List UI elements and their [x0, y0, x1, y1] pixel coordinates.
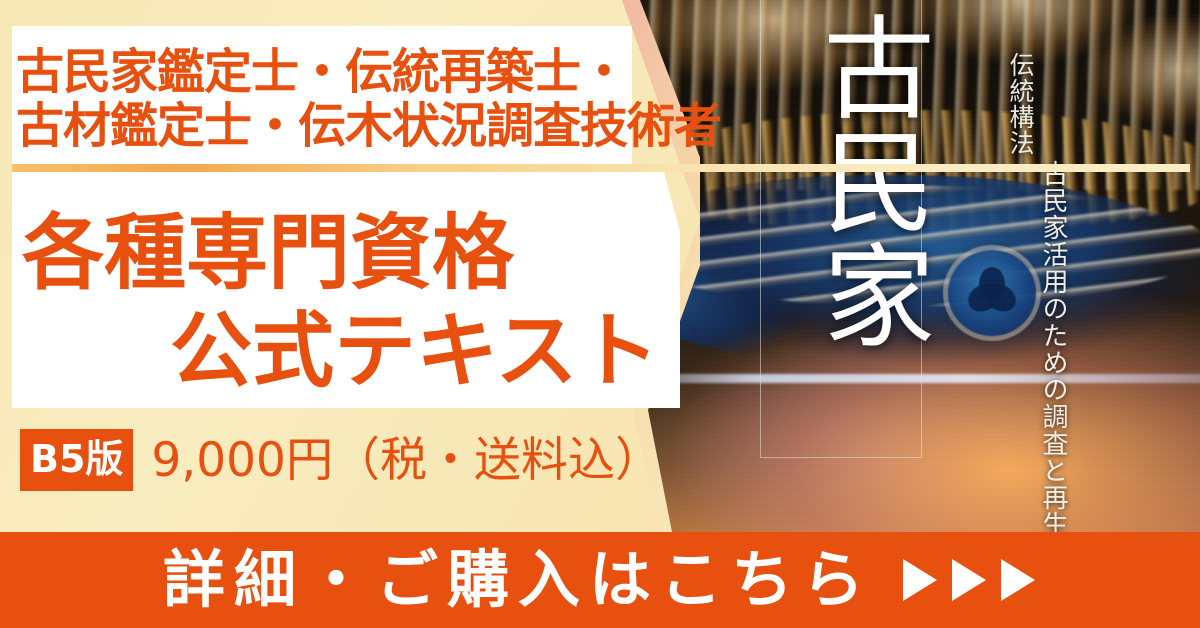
price-amount: 9,000円（税・送料込） [151, 437, 662, 484]
book-cover-subtitle-1: 伝統構法 [1005, 52, 1035, 522]
cta-arrows [899, 557, 1037, 603]
book-cover: 古民家 [752, 0, 928, 470]
main-title-line-2: 公式テキスト [170, 284, 660, 403]
panel-divider-strip [12, 164, 1190, 172]
cta-bar[interactable]: 詳細・ご購入はこちら [0, 532, 1200, 628]
triangle-right-icon [997, 557, 1037, 603]
triangle-right-icon [899, 557, 939, 603]
size-badge: B5版 [20, 429, 133, 491]
cta-label: 詳細・ご購入はこちら [163, 549, 873, 611]
banner-root: 古民家 伝統構法 古民家活用のための調査と再生の 古民家鑑定士・伝統再築士・ 古… [0, 0, 1200, 628]
price-row: B5版 9,000円（税・送料込） [20, 430, 662, 490]
book-cover-title: 古民家 [752, 10, 928, 352]
triangle-right-icon [948, 557, 988, 603]
qualification-line-2: 古材鑑定士・伝木状況調査技術者 [16, 86, 721, 156]
